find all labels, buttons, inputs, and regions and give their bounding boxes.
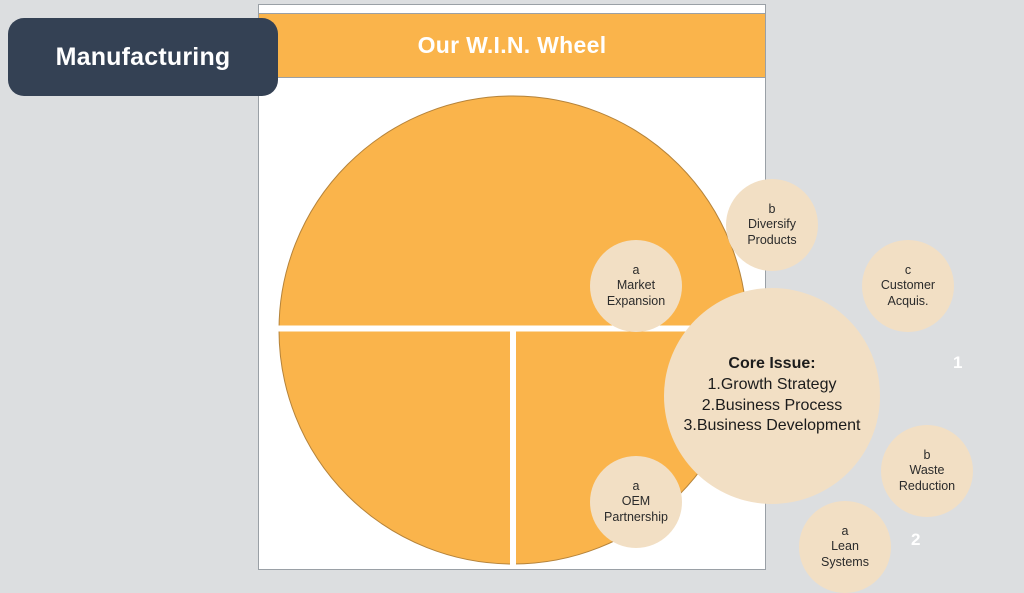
node-label: Lean Systems [821,539,869,570]
node-key: c [905,263,911,279]
node-diversify-products[interactable]: b Diversify Products [726,179,818,271]
node-customer-acquisition[interactable]: c Customer Acquis. [862,240,954,332]
node-key: a [633,263,640,279]
node-oem-partnership[interactable]: a OEM Partnership [590,456,682,548]
category-badge-label: Manufacturing [56,43,231,72]
panel-header: Our W.I.N. Wheel [259,13,765,78]
node-key: a [842,524,849,540]
node-key: a [633,479,640,495]
node-label: Customer Acquis. [881,278,935,309]
core-issue-hub: Core Issue: 1.Growth Strategy 2.Business… [664,288,880,504]
segment-number-1: 1 [953,353,962,373]
page-title: Our W.I.N. Wheel [418,32,607,59]
slide-panel: Our W.I.N. Wheel Core Issue: 1.Growth St… [258,4,766,570]
node-label: OEM Partnership [604,494,668,525]
segment-number-3: 3 [702,533,711,553]
core-issue-title: Core Issue: [728,355,815,373]
core-issue-item-1: 1.Growth Strategy [708,375,837,395]
segment-number-2: 2 [911,530,920,550]
core-issue-item-3: 3.Business Development [684,416,861,436]
win-wheel-diagram: Core Issue: 1.Growth Strategy 2.Business… [259,78,767,570]
core-issue-item-2: 2.Business Process [702,396,843,416]
node-market-expansion[interactable]: a Market Expansion [590,240,682,332]
category-badge[interactable]: Manufacturing [8,18,278,96]
node-lean-systems[interactable]: a Lean Systems [799,501,891,593]
node-label: Diversify Products [747,217,796,248]
node-label: Market Expansion [607,278,665,309]
node-key: b [924,448,931,464]
node-key: b [769,202,776,218]
node-waste-reduction[interactable]: b Waste Reduction [881,425,973,517]
node-label: Waste Reduction [899,463,955,494]
